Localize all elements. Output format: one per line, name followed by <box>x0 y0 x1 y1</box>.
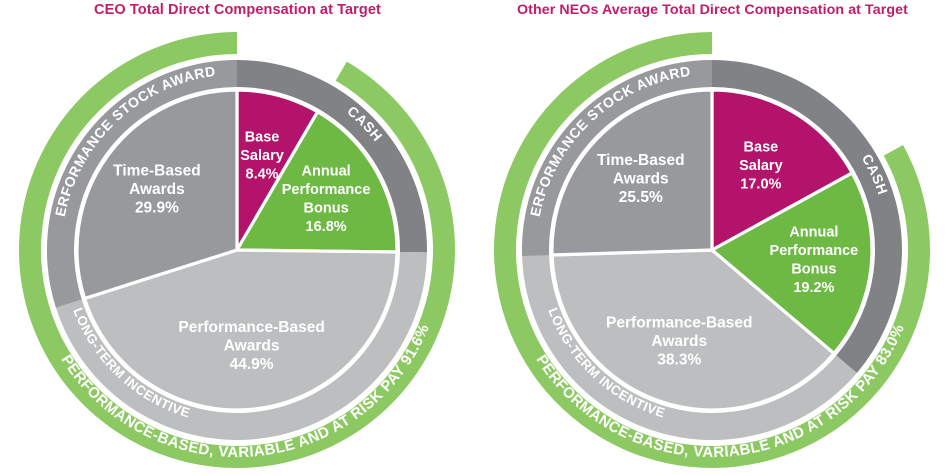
neos-chart-panel: Other NEOs Average Total Direct Compensa… <box>475 0 950 476</box>
ceo-donut-chart: BaseSalary8.4%AnnualPerformanceBonus16.8… <box>0 24 475 476</box>
slice-label: BaseSalary8.4% <box>240 129 284 182</box>
compensation-charts-page: CEO Total Direct Compensation at Target … <box>0 0 950 476</box>
neos-chart-title: Other NEOs Average Total Direct Compensa… <box>475 2 950 18</box>
slice-label: BaseSalary17.0% <box>739 139 783 192</box>
neos-donut-chart: BaseSalary17.0%AnnualPerformanceBonus19.… <box>475 24 950 476</box>
ceo-chart-title: CEO Total Direct Compensation at Target <box>0 2 475 18</box>
ceo-chart-panel: CEO Total Direct Compensation at Target … <box>0 0 475 476</box>
